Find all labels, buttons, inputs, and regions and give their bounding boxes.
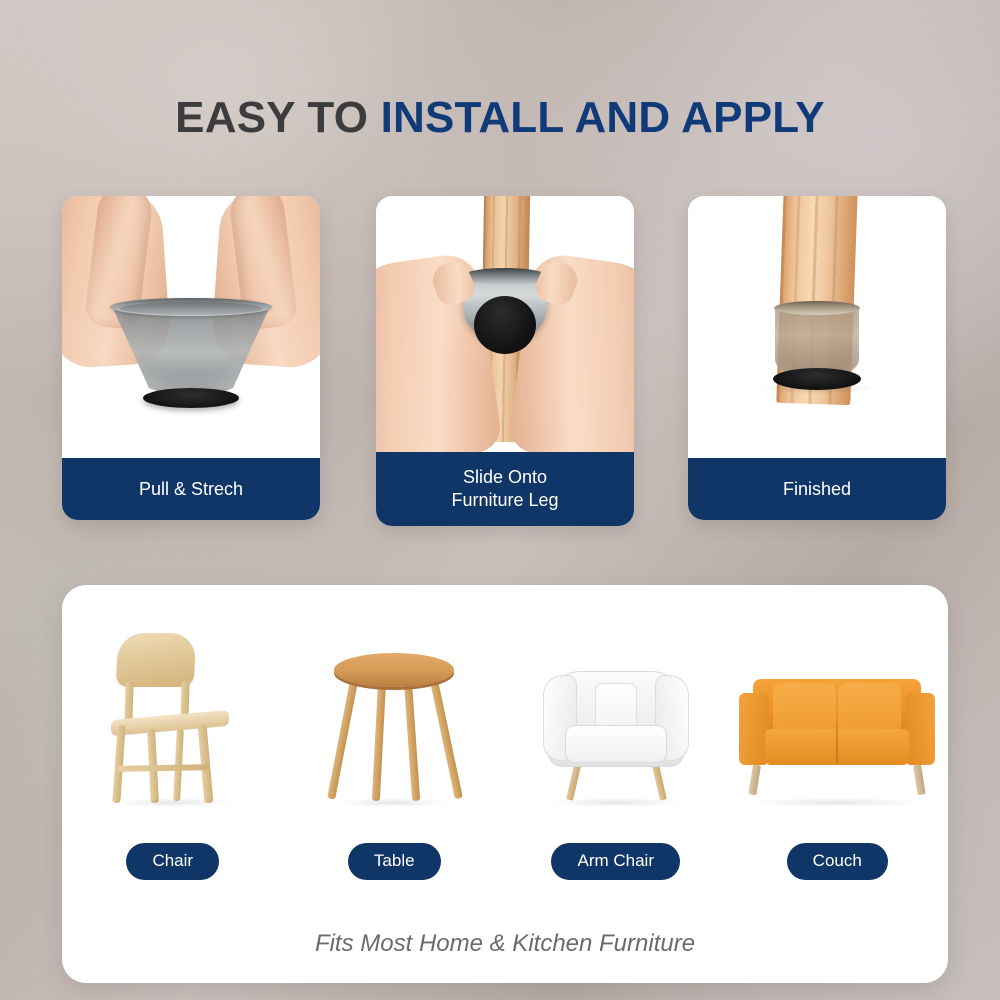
pill-cell-arm-chair: Arm Chair [505, 843, 727, 880]
step-card-pull-and-stretch: Pull & Strech [62, 196, 320, 520]
cup-inner-icon [120, 302, 262, 315]
table-icon [334, 653, 454, 803]
step-2-photo [376, 196, 634, 452]
pill-cell-couch: Couch [727, 843, 949, 880]
cup-base-pad-icon [143, 388, 239, 408]
page-title-dark-part: EASY TO [175, 93, 380, 142]
furniture-label-couch[interactable]: Couch [787, 843, 888, 880]
step-1-photo [62, 196, 320, 458]
product-infographic-page: EASY TO INSTALL AND APPLY Pull & Strech [0, 0, 1000, 1000]
cap-rim-icon [774, 301, 860, 315]
furniture-illustrations-row [62, 613, 948, 803]
couch-icon [739, 671, 935, 803]
compatible-furniture-panel: Chair Table Arm Chair Couch Fits Most Ho… [62, 585, 948, 983]
furniture-cell-couch [727, 613, 949, 803]
cup-rim-icon [462, 268, 548, 285]
pill-cell-table: Table [284, 843, 506, 880]
step-3-photo [688, 196, 946, 458]
cup-base-pad-icon [474, 296, 536, 354]
step-2-caption-line2: Furniture Leg [451, 489, 558, 512]
step-2-caption: Slide Onto Furniture Leg [376, 452, 634, 526]
chair-icon [103, 633, 243, 803]
install-steps-row: Pull & Strech Slide Onto Furniture Leg [62, 196, 948, 526]
arm-chair-icon [541, 653, 691, 803]
step-card-slide-onto-leg: Slide Onto Furniture Leg [376, 196, 634, 526]
furniture-label-chair[interactable]: Chair [126, 843, 219, 880]
furniture-labels-row: Chair Table Arm Chair Couch [62, 843, 948, 880]
furniture-cell-table [284, 613, 506, 803]
step-1-caption: Pull & Strech [62, 458, 320, 520]
page-title: EASY TO INSTALL AND APPLY [0, 96, 1000, 140]
furniture-label-arm-chair[interactable]: Arm Chair [551, 843, 680, 880]
drop-shadow [761, 382, 873, 394]
furniture-cell-chair [62, 613, 284, 803]
step-3-caption: Finished [688, 458, 946, 520]
step-2-caption-line1: Slide Onto [451, 466, 558, 489]
silicone-cup-icon [111, 304, 271, 396]
furniture-label-table[interactable]: Table [348, 843, 441, 880]
pill-cell-chair: Chair [62, 843, 284, 880]
furniture-cell-arm-chair [505, 613, 727, 803]
footnote-text: Fits Most Home & Kitchen Furniture [62, 930, 948, 958]
page-title-blue-part: INSTALL AND APPLY [381, 93, 825, 142]
step-card-finished: Finished [688, 196, 946, 520]
